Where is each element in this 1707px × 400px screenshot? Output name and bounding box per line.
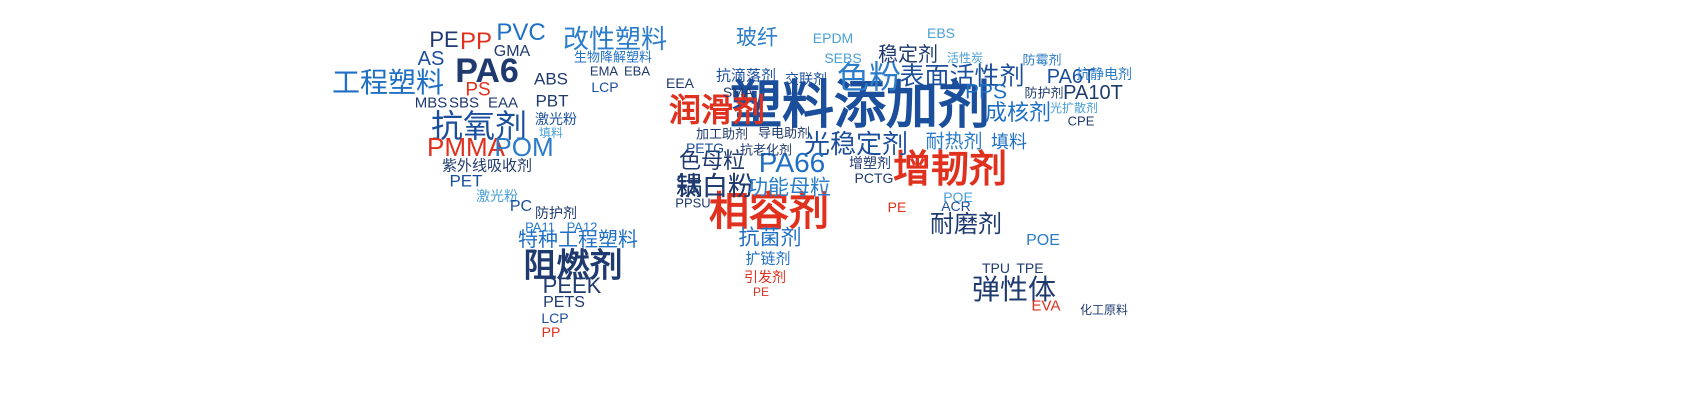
word-protective-agent-2[interactable]: 防护剂 xyxy=(1024,87,1063,100)
word-mildew-inhibitor[interactable]: 防霉剂 xyxy=(1022,54,1061,67)
word-as[interactable]: AS xyxy=(418,49,445,69)
word-laser-powder-1[interactable]: 激光粉 xyxy=(535,112,577,126)
word-biodegradable-plastics[interactable]: 生物降解塑料 xyxy=(574,51,652,64)
word-pets[interactable]: PETS xyxy=(543,295,585,311)
word-protective-agent[interactable]: 防护剂 xyxy=(535,206,577,220)
word-chain-extender[interactable]: 扩链剂 xyxy=(745,252,790,267)
word-pet[interactable]: PET xyxy=(449,173,482,190)
word-ema[interactable]: EMA xyxy=(590,65,618,78)
word-tpe[interactable]: TPE xyxy=(1016,261,1043,275)
word-ppsu[interactable]: PPSU xyxy=(675,197,710,210)
word-pps[interactable]: PPS xyxy=(965,82,1007,103)
word-cpe[interactable]: CPE xyxy=(1068,115,1095,128)
word-pp-bottom[interactable]: PP xyxy=(542,325,561,339)
word-light-diffusing-agent[interactable]: 光扩散剂 xyxy=(1050,102,1098,114)
word-processing-aid[interactable]: 加工助剂 xyxy=(696,128,748,141)
word-initiator[interactable]: 引发剂 xyxy=(744,270,786,284)
word-anti-drip-agent[interactable]: 抗滴落剂 xyxy=(716,69,776,84)
word-epdm[interactable]: EPDM xyxy=(813,31,853,45)
word-filler-small[interactable]: 填料 xyxy=(539,127,563,139)
word-filler[interactable]: 填料 xyxy=(991,133,1027,151)
word-eea[interactable]: EEA xyxy=(666,76,694,90)
word-tpu[interactable]: TPU xyxy=(982,261,1010,275)
word-abs[interactable]: ABS xyxy=(534,71,568,88)
word-lcp-bottom[interactable]: LCP xyxy=(541,311,568,325)
word-plasticizer[interactable]: 增塑剂 xyxy=(849,156,891,170)
word-pbt[interactable]: PBT xyxy=(535,93,568,110)
word-wear-resistant-agent[interactable]: 耐磨剂 xyxy=(930,213,1002,237)
word-antistatic-agent[interactable]: 抗静电剂 xyxy=(1076,67,1132,81)
word-pp-top[interactable]: PP xyxy=(460,30,492,54)
word-eaa[interactable]: EAA xyxy=(488,96,518,111)
word-pctg[interactable]: PCTG xyxy=(855,171,894,185)
word-crosslinking-agent[interactable]: 交联剂 xyxy=(785,72,827,86)
word-stabilizer[interactable]: 稳定剂 xyxy=(878,45,938,65)
word-pc[interactable]: PC xyxy=(510,199,532,215)
word-activated-carbon[interactable]: 活性炭 xyxy=(947,52,983,64)
word-antibacterial-agent[interactable]: 抗菌剂 xyxy=(739,228,802,249)
word-pa12[interactable]: PA12 xyxy=(567,221,598,234)
word-modified-plastics[interactable]: 改性塑料 xyxy=(563,26,667,52)
word-lcp-top[interactable]: LCP xyxy=(591,80,618,94)
word-engineering-plastics[interactable]: 工程塑料 xyxy=(332,69,444,97)
word-gma[interactable]: GMA xyxy=(494,44,530,60)
word-conductive-aid[interactable]: 导电助剂 xyxy=(758,127,810,140)
word-functional-masterbatch[interactable]: 功能母粒 xyxy=(747,178,831,199)
word-poe-2[interactable]: POE xyxy=(1026,233,1060,249)
word-mbs[interactable]: MBS xyxy=(415,96,448,111)
word-glass-fiber[interactable]: 玻纤 xyxy=(736,28,778,49)
word-pmma[interactable]: PMMA xyxy=(427,134,505,160)
word-sbs[interactable]: SBS xyxy=(449,96,479,111)
word-ebs[interactable]: EBS xyxy=(927,26,955,40)
word-acr[interactable]: ACR xyxy=(941,199,971,213)
word-sebs[interactable]: SEBS xyxy=(824,51,861,65)
word-pvc[interactable]: PVC xyxy=(496,21,545,45)
word-nucleating-agent[interactable]: 成核剂 xyxy=(985,102,1051,124)
word-anti-aging-agent[interactable]: 抗老化剂 xyxy=(740,144,792,157)
word-heat-resistant-agent[interactable]: 耐热剂 xyxy=(925,133,982,152)
word-pe-right[interactable]: PE xyxy=(888,200,907,214)
word-pe-bottom[interactable]: PE xyxy=(753,286,769,298)
word-pa11[interactable]: PA11 xyxy=(525,221,555,234)
word-chemical-raw-materials[interactable]: 化工原料 xyxy=(1080,304,1128,316)
word-petg[interactable]: PETG xyxy=(686,141,724,155)
word-toughening-agent[interactable]: 增韧剂 xyxy=(893,151,1007,189)
word-eba[interactable]: EBA xyxy=(624,65,650,78)
word-sma[interactable]: SMA xyxy=(723,85,753,99)
word-eva[interactable]: EVA xyxy=(1032,299,1061,314)
word-cloud-canvas: 塑料添加剂相容剂增韧剂阻燃剂润滑剂色粉抗氧剂工程塑料PA6表面活性剂光稳定剂改性… xyxy=(0,0,1707,400)
